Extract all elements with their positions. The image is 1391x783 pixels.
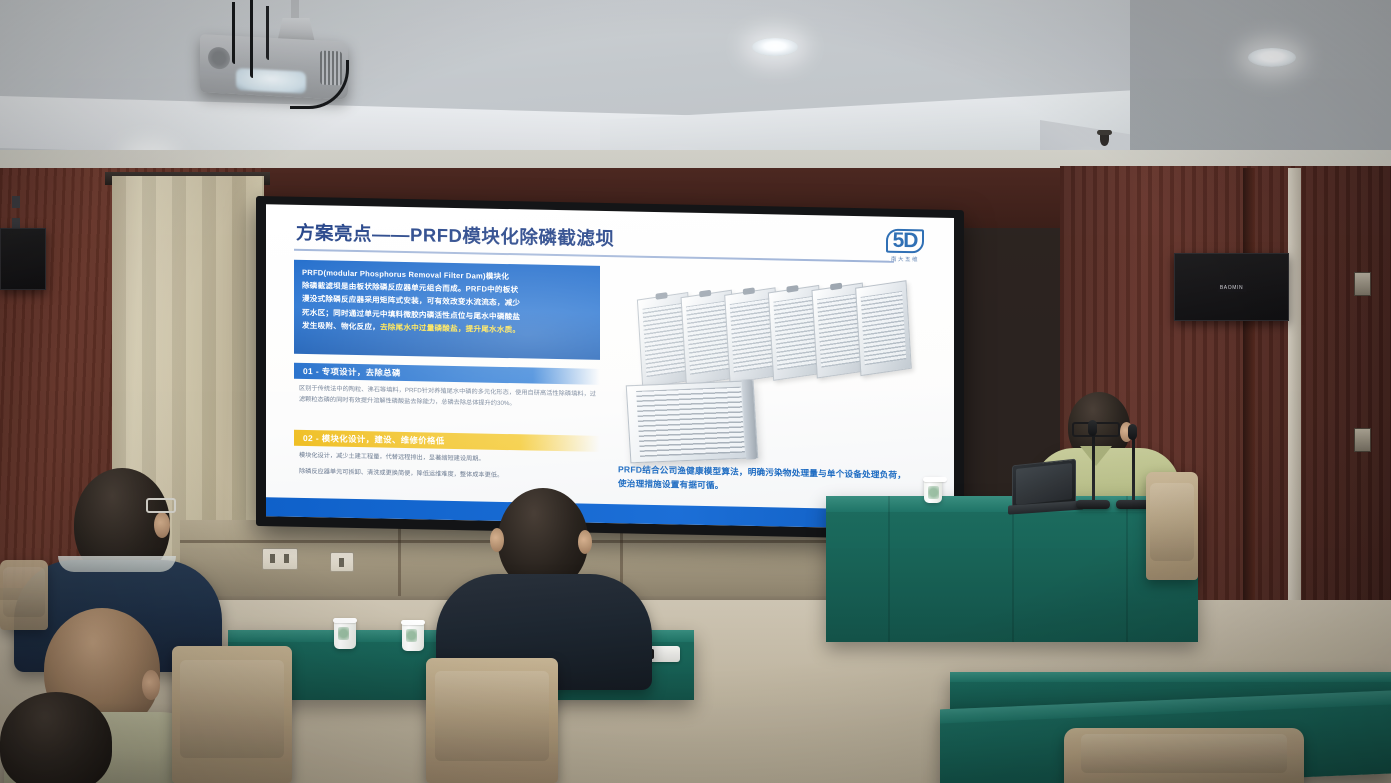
cup-rim (333, 618, 357, 623)
conference-room-photo: BAOMIN 方案亮点——PRFD模块化除磷截滤坝 5D 南大五维 PRFD(m… (0, 0, 1391, 783)
panel-cap (699, 290, 711, 298)
microphone-stem (1132, 436, 1135, 504)
projector-cable (250, 0, 253, 78)
wainscot-divider (398, 522, 401, 598)
wall-speaker-right: BAOMIN (1174, 253, 1289, 321)
filter-panel-front-view (626, 380, 759, 463)
audience-chair (172, 646, 292, 783)
attendee-ear (142, 670, 160, 700)
speaker-brand-label: BAOMIN (1217, 284, 1246, 292)
attendee-far-left-edge (0, 692, 120, 783)
table-pleat (1012, 496, 1014, 642)
logo-mark: 5D (886, 229, 925, 254)
door-hinge-icon (1354, 272, 1371, 296)
attendee-collar (58, 556, 176, 572)
projector-cable (266, 6, 269, 60)
water-cup (402, 620, 424, 651)
presenter-collar (1080, 446, 1112, 466)
ceiling-corner (1130, 0, 1391, 150)
downlight-icon (1248, 48, 1296, 67)
section-01-body: 区别于传统法中的陶粒、沸石等填料，PRFD针对养殖尾水中磷的多元化形态，使用自研… (294, 379, 600, 411)
presenter-table (826, 496, 1198, 642)
panel-cap (655, 292, 667, 300)
microphone-base (1116, 500, 1150, 509)
attendee-glasses (146, 498, 176, 513)
projector-vent-left (208, 47, 230, 70)
attendee-ear (490, 528, 504, 552)
presentation-slide: 方案亮点——PRFD模块化除磷截滤坝 5D 南大五维 PRFD(modular … (266, 204, 954, 530)
microphone-head-icon (1128, 424, 1137, 440)
section-02-paragraph-2: 除磷反应器单元可拆卸、清洗或更换简便，降低运维难度，整体成本更低。 (299, 466, 596, 482)
presenter-chair (1146, 472, 1198, 580)
audience-chair (0, 560, 48, 630)
audience-table-top (950, 672, 1391, 682)
audience-chair (1064, 728, 1304, 783)
water-cup (334, 618, 356, 649)
panel-cap (830, 283, 842, 291)
attendee-head (0, 692, 112, 783)
microphone-base (1076, 500, 1110, 509)
water-cup (924, 477, 942, 503)
table-pleat (888, 496, 890, 642)
microphone-stem (1092, 432, 1095, 504)
slide-section-01: 01 - 专项设计，去除总磷 区别于传统法中的陶粒、沸石等填料，PRFD针对养殖… (294, 363, 600, 416)
panel-cap (786, 285, 798, 293)
attendee-ear (578, 530, 592, 554)
microphone-head-icon (1088, 420, 1097, 436)
slide-title: 方案亮点——PRFD模块化除磷截滤坝 (296, 219, 614, 251)
power-outlet (262, 548, 298, 570)
sprinkler-head-icon (1100, 133, 1109, 146)
power-outlet (330, 552, 354, 572)
speaker-bracket (12, 196, 20, 208)
table-pleat (1126, 496, 1128, 642)
product-render (618, 273, 918, 464)
door-frame-inner (1243, 168, 1255, 623)
section-02-paragraph-1: 模块化设计，减少土建工程量，代替远程排出，显著缩短建设周期。 (299, 451, 596, 467)
section-01-paragraph: 区别于传统法中的陶粒、沸石等填料，PRFD针对养殖尾水中磷的多元化形态，使用自研… (299, 384, 596, 411)
panel-array (637, 261, 907, 396)
cup-rim (401, 620, 425, 625)
intro-line-5-highlight: 去除尾水中过量磷酸盐，提升尾水水质。 (380, 322, 520, 334)
section-02-body: 模块化设计，减少土建工程量，代替远程排出，显著缩短建设周期。 除磷反应器单元可拆… (294, 446, 600, 483)
door-hinge-icon (1354, 428, 1371, 452)
wall-speaker-left (0, 228, 46, 290)
panel-cap (743, 287, 755, 295)
filter-panel-unit (855, 280, 912, 376)
company-logo: 5D 南大五维 (878, 228, 932, 263)
projector-cable (232, 2, 235, 64)
attendee-ear (154, 512, 170, 538)
door-frame (1288, 168, 1301, 623)
downlight-icon (752, 38, 798, 56)
slide-intro-box: PRFD(modular Phosphorus Removal Filter D… (294, 260, 600, 360)
slide-section-02: 02 - 模块化设计，建设、维修价格低 模块化设计，减少土建工程量，代替远程排出… (294, 430, 600, 488)
audience-chair (426, 658, 558, 783)
cup-rim (923, 477, 947, 482)
intro-line-5-text: 发生吸附、物化反应， (302, 321, 380, 332)
